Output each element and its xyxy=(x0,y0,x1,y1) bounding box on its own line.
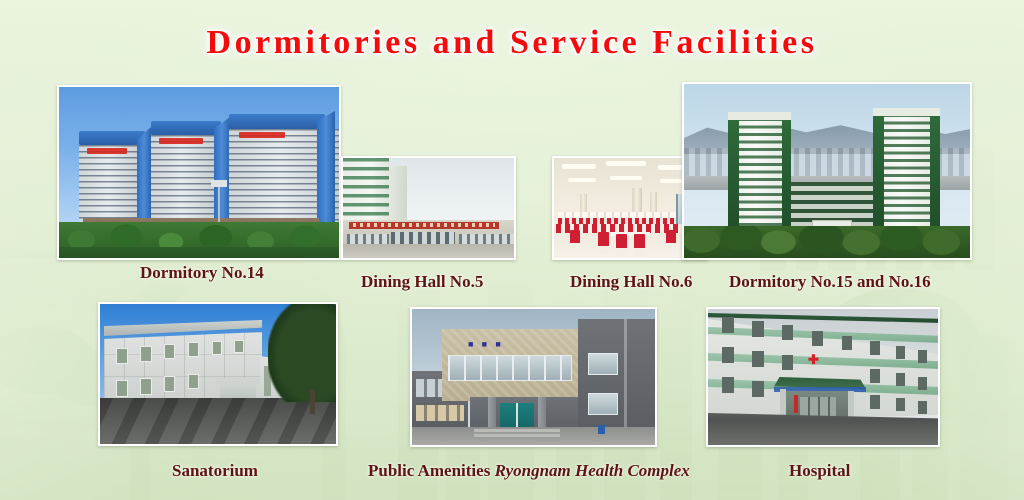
photo-ryongnam-health-complex[interactable]: ■ ■ ■ xyxy=(410,307,657,447)
road-shadow xyxy=(100,398,336,444)
scene-dining-hall-5 xyxy=(343,158,514,258)
window xyxy=(870,341,880,355)
chair-leg xyxy=(666,243,676,250)
caption-italic-part: Ryongnam Health Complex xyxy=(495,461,690,480)
caption-dining-hall-5: Dining Hall No.5 xyxy=(361,272,483,292)
chair xyxy=(666,230,676,243)
tower-16-roof xyxy=(873,108,940,116)
right-volume-seam xyxy=(624,319,627,431)
window xyxy=(896,346,905,359)
tower-a-fin xyxy=(137,127,151,231)
caption-hospital: Hospital xyxy=(789,461,850,481)
chair xyxy=(616,234,627,248)
tower-b-sign xyxy=(159,138,203,144)
entry-steps xyxy=(474,429,560,439)
window xyxy=(752,321,764,337)
ceiling-light xyxy=(562,164,596,169)
window xyxy=(140,346,152,362)
photo-dormitory-14[interactable] xyxy=(57,85,341,260)
blue-bin xyxy=(598,425,605,434)
asphalt-road xyxy=(708,419,938,445)
background-tower xyxy=(343,158,389,224)
window xyxy=(870,369,880,383)
tower-c-sign xyxy=(239,132,285,138)
window xyxy=(116,348,128,364)
concrete-plaza xyxy=(343,244,514,258)
right-window-lower xyxy=(588,393,618,415)
window xyxy=(752,381,764,397)
tower-15 xyxy=(734,118,788,238)
tower-a-sign xyxy=(87,148,127,154)
ceiling-light xyxy=(568,178,596,182)
korean-sign: ■ ■ ■ xyxy=(468,339,504,349)
caption-dormitory-14: Dormitory No.14 xyxy=(140,263,264,283)
caption-dormitory-15-16: Dormitory No.15 and No.16 xyxy=(729,272,931,292)
window xyxy=(782,325,793,340)
scene-dormitory-15-16 xyxy=(684,84,970,258)
caption-prefix: Public Amenities xyxy=(368,461,495,480)
chair-leg xyxy=(616,248,627,256)
chair xyxy=(598,232,609,246)
window xyxy=(164,376,175,392)
window xyxy=(188,374,199,389)
window xyxy=(896,373,905,386)
ceiling-light xyxy=(610,176,642,180)
tower-b-fin xyxy=(214,117,230,231)
scene-ryongnam-health-complex: ■ ■ ■ xyxy=(412,309,655,445)
window xyxy=(918,350,927,363)
banner-text xyxy=(353,223,495,227)
photo-hospital[interactable]: ✚ xyxy=(706,307,940,447)
scene-dormitory-14 xyxy=(59,87,339,258)
ceiling-light xyxy=(606,161,646,166)
scene-sanatorium xyxy=(100,304,336,444)
tower-a-cap xyxy=(79,131,145,145)
photo-dining-hall-5[interactable] xyxy=(341,156,516,260)
window xyxy=(212,341,222,355)
tower-15-roof xyxy=(728,112,791,120)
window xyxy=(896,398,905,411)
tower-16 xyxy=(880,114,936,238)
tower-c-fin xyxy=(317,111,335,231)
tower-15-green-spine xyxy=(728,120,739,238)
window xyxy=(722,317,734,333)
window xyxy=(234,340,244,353)
window xyxy=(918,377,927,390)
tower-b-cap xyxy=(151,121,221,135)
window xyxy=(722,347,734,363)
tower-15-balconies xyxy=(734,118,788,238)
window xyxy=(842,336,852,350)
photo-sanatorium[interactable] xyxy=(98,302,338,446)
chair xyxy=(570,230,580,243)
scene-hospital: ✚ xyxy=(708,309,938,445)
window xyxy=(870,395,880,409)
red-banner xyxy=(794,395,798,413)
window xyxy=(188,342,199,357)
pole-lamp xyxy=(211,180,227,187)
chair-leg xyxy=(634,248,645,256)
left-wing-lower-windows xyxy=(416,405,464,421)
red-cross-icon: ✚ xyxy=(808,353,819,366)
chair-leg xyxy=(570,243,580,250)
window xyxy=(782,355,793,370)
window xyxy=(116,380,128,397)
chair-leg xyxy=(598,246,609,254)
foreground-canopy xyxy=(684,226,970,258)
photo-dormitory-15-16[interactable] xyxy=(682,82,972,260)
window xyxy=(140,378,152,395)
page-title: Dormitories and Service Facilities xyxy=(0,24,1024,62)
right-window-upper xyxy=(588,353,618,375)
window xyxy=(918,401,927,414)
caption-ryongnam-health-complex: Public Amenities Ryongnam Health Complex xyxy=(368,461,690,481)
caption-dining-hall-6: Dining Hall No.6 xyxy=(570,272,692,292)
caption-sanatorium: Sanatorium xyxy=(172,461,258,481)
tower-c-cap xyxy=(229,114,325,129)
tower-16-balconies xyxy=(880,114,936,238)
background-tower-right xyxy=(389,166,407,224)
tree-trunk xyxy=(310,390,315,414)
upper-window-mullions xyxy=(448,355,572,381)
window xyxy=(812,331,823,346)
window xyxy=(752,351,764,367)
hedge xyxy=(59,247,339,258)
large-tree xyxy=(268,304,336,402)
tower-15-green-edge xyxy=(782,118,791,238)
chair xyxy=(634,234,645,248)
window xyxy=(164,344,175,359)
window xyxy=(722,377,734,393)
tower-balcony-bands xyxy=(343,158,389,224)
tower-16-green-edge xyxy=(930,114,940,238)
tower-16-green-spine xyxy=(873,116,884,238)
